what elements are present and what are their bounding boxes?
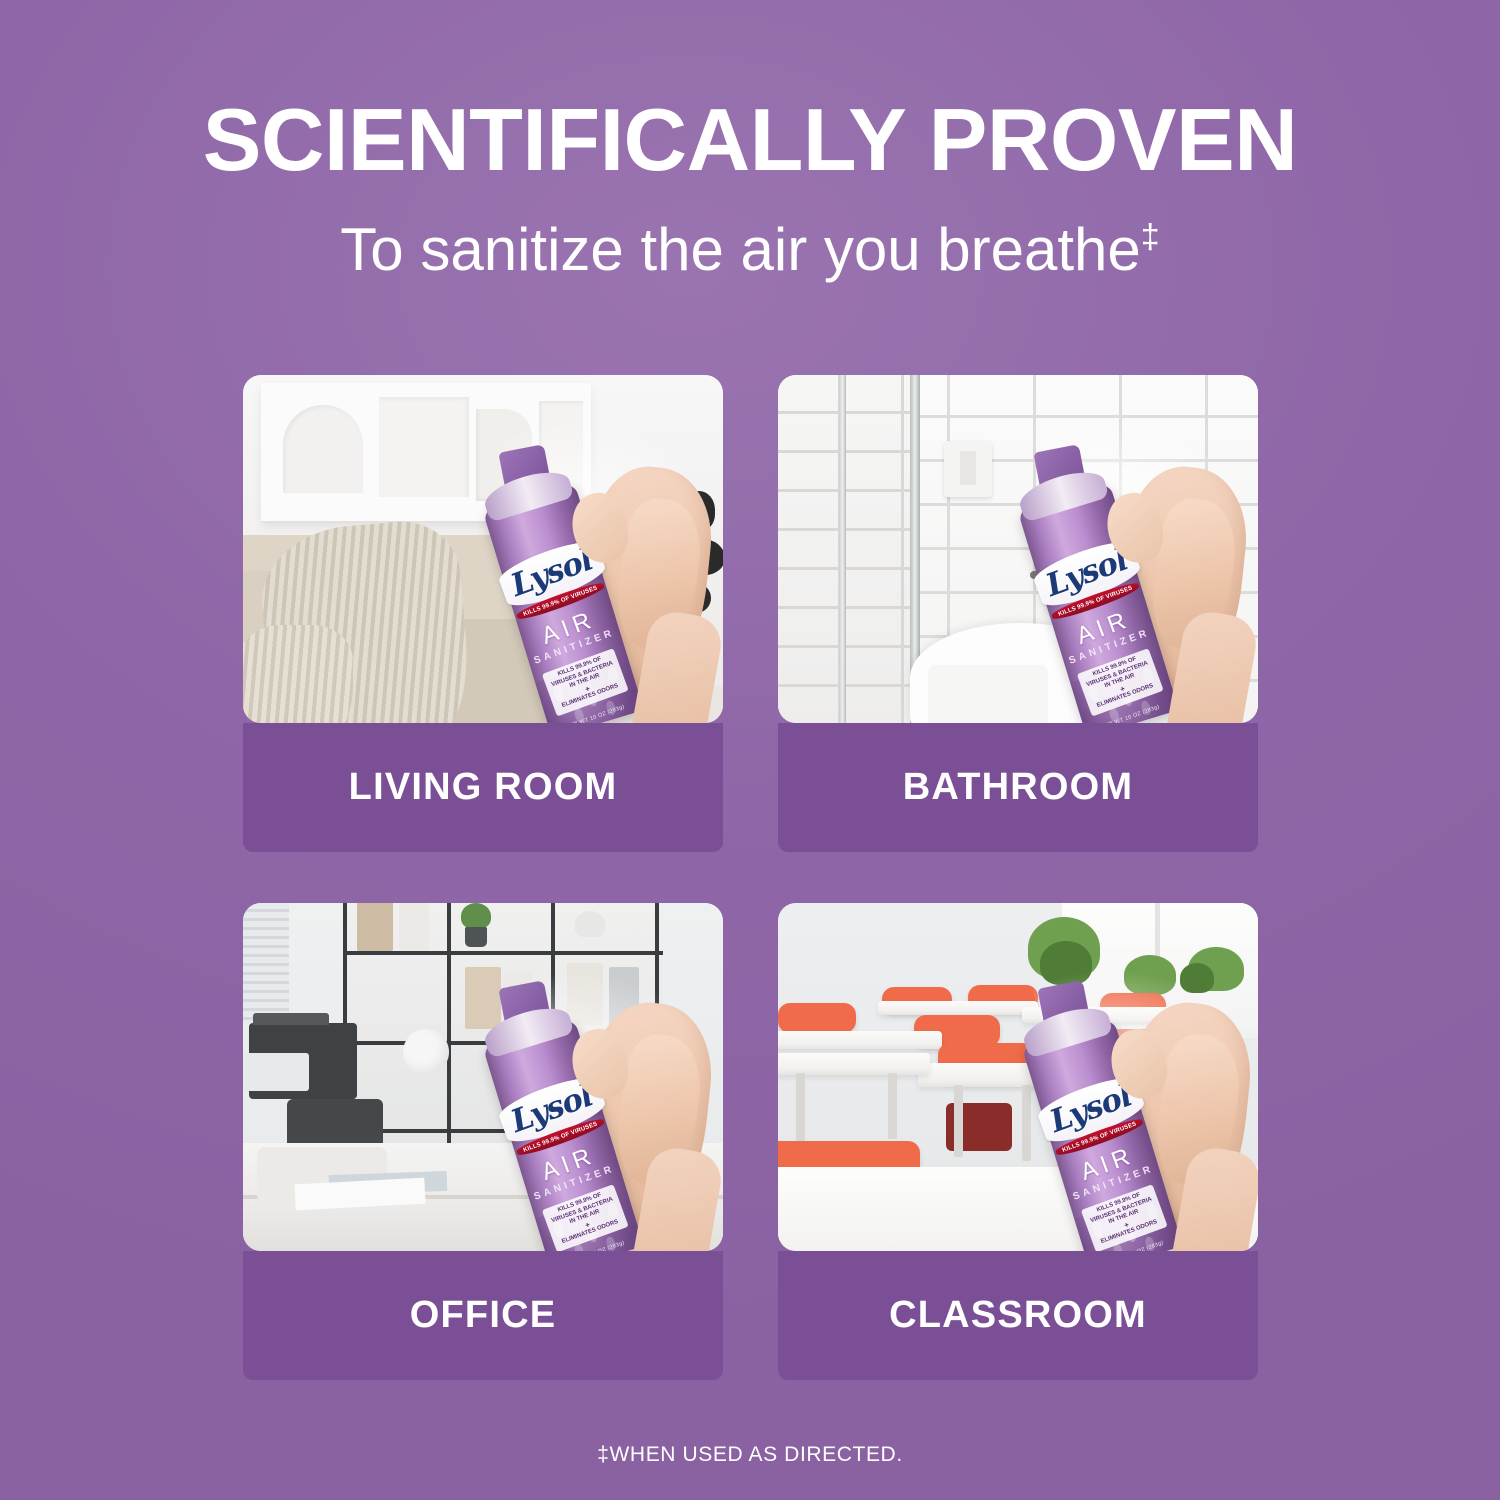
toilet-tank: [928, 665, 1048, 723]
subway-tile-wall-left: [778, 375, 916, 723]
card-label-living-room: LIVING ROOM: [349, 766, 618, 809]
product-in-hand: NET WT 10 OZ (283g) Lysol KILLS 99.9% OF…: [543, 453, 673, 723]
window-blinds: [243, 903, 289, 1023]
bathroom-photo: NET WT 10 OZ (283g) Lysol KILLS 99.9% OF…: [778, 375, 1258, 723]
shower-glass-edge: [839, 375, 846, 723]
caption-band-office: OFFICE: [243, 1251, 723, 1380]
poster-canvas: SCIENTIFICALLY PROVEN To sanitize the ai…: [0, 0, 1500, 1500]
classroom-desk: [778, 1053, 930, 1075]
header-block: SCIENTIFICALLY PROVEN To sanitize the ai…: [0, 96, 1500, 280]
shelf-plant-icon: [461, 903, 491, 929]
subtitle-footnote-marker: ‡: [1141, 218, 1160, 256]
art-shape-arch-icon: [283, 405, 363, 493]
bathroom-scene: NET WT 10 OZ (283g) Lysol KILLS 99.9% OF…: [778, 375, 1258, 723]
page-subtitle-text: To sanitize the air you breathe: [340, 216, 1140, 283]
shelf-board: [343, 951, 663, 955]
card-label-bathroom: BATHROOM: [903, 766, 1134, 809]
page-subtitle: To sanitize the air you breathe‡: [0, 220, 1500, 280]
living-room-scene: NET WT 10 OZ (283g) Lysol KILLS 99.9% OF…: [243, 375, 723, 723]
caption-band-living-room: LIVING ROOM: [243, 723, 723, 852]
art-shape-square-icon: [379, 397, 469, 497]
classroom-plant-icon: [1040, 941, 1092, 985]
use-case-grid: NET WT 10 OZ (283g) Lysol KILLS 99.9% OF…: [243, 375, 1258, 1380]
use-case-card-office[interactable]: NET WT 10 OZ (283g) Lysol KILLS 99.9% OF…: [243, 903, 723, 1380]
office-photo: NET WT 10 OZ (283g) Lysol KILLS 99.9% OF…: [243, 903, 723, 1251]
use-case-card-living-room[interactable]: NET WT 10 OZ (283g) Lysol KILLS 99.9% OF…: [243, 375, 723, 852]
shelf-decor-icon: [575, 911, 605, 937]
product-in-hand: NET WT 10 OZ (283g) Lysol KILLS 99.9% OF…: [1078, 453, 1208, 723]
desk-leg: [954, 1085, 963, 1157]
page-title: SCIENTIFICALLY PROVEN: [0, 96, 1500, 184]
use-case-card-classroom[interactable]: NET WT 10 OZ (283g) Lysol KILLS 99.9% OF…: [778, 903, 1258, 1380]
printer-tray: [243, 1053, 309, 1091]
binder: [465, 967, 501, 1029]
product-in-hand: NET WT 10 OZ (283g) Lysol KILLS 99.9% OF…: [1082, 989, 1212, 1251]
caption-band-classroom: CLASSROOM: [778, 1251, 1258, 1380]
plant-pot: [465, 927, 487, 947]
desk-leg: [888, 1073, 897, 1139]
desk-leg: [1022, 1085, 1031, 1161]
footnote-disclaimer: ‡WHEN USED AS DIRECTED.: [0, 1443, 1500, 1467]
binder: [357, 903, 393, 951]
shelf-divider: [447, 903, 451, 1151]
card-label-classroom: CLASSROOM: [889, 1294, 1147, 1337]
caption-band-bathroom: BATHROOM: [778, 723, 1258, 852]
classroom-photo: NET WT 10 OZ (283g) Lysol KILLS 99.9% OF…: [778, 903, 1258, 1251]
light-switch-plate: [944, 441, 992, 497]
desk-leg: [796, 1073, 805, 1143]
desk-sphere-decor: [403, 1029, 449, 1075]
classroom-desk: [778, 1031, 942, 1049]
binder: [399, 903, 429, 951]
knit-throw-blanket-drape: [243, 625, 353, 723]
use-case-card-bathroom[interactable]: NET WT 10 OZ (283g) Lysol KILLS 99.9% OF…: [778, 375, 1258, 852]
living-room-photo: NET WT 10 OZ (283g) Lysol KILLS 99.9% OF…: [243, 375, 723, 723]
classroom-scene: NET WT 10 OZ (283g) Lysol KILLS 99.9% OF…: [778, 903, 1258, 1251]
classroom-desk: [878, 1001, 1038, 1015]
product-in-hand: NET WT 10 OZ (283g) Lysol KILLS 99.9% OF…: [543, 989, 673, 1251]
classroom-chair: [778, 1003, 856, 1033]
office-scene: NET WT 10 OZ (283g) Lysol KILLS 99.9% OF…: [243, 903, 723, 1251]
card-label-office: OFFICE: [410, 1294, 557, 1337]
